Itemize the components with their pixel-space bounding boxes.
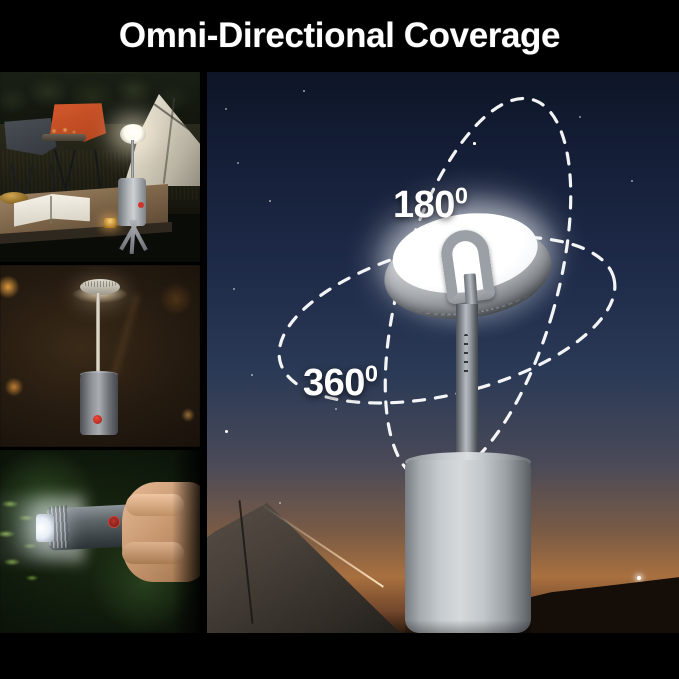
- angle-label-180: 1800: [393, 184, 468, 227]
- star-bright: [637, 576, 641, 580]
- angle-value-180: 180: [393, 184, 455, 226]
- lamp-head-vents: [82, 281, 118, 287]
- lamp-body: [80, 373, 118, 435]
- angle-unit-360: 0: [365, 360, 378, 386]
- power-button-icon: [93, 415, 102, 424]
- angle-unit-180: 0: [455, 182, 468, 208]
- lamp-body-shading: [405, 620, 531, 633]
- star: [237, 162, 239, 164]
- product-feature-image: Omni-Directional Coverage: [0, 0, 679, 679]
- lamp-body: [405, 460, 531, 633]
- tripod-stand: [108, 220, 158, 256]
- thumbnail-extended-pole: [0, 265, 200, 447]
- vignette-edge: [172, 450, 200, 633]
- star: [279, 502, 281, 504]
- power-button-icon: [108, 516, 120, 528]
- flashlight-emitter: [36, 514, 54, 542]
- star: [303, 90, 305, 92]
- telescopic-pole: [96, 293, 100, 375]
- power-button-icon: [138, 202, 144, 208]
- angle-label-360: 3600: [303, 362, 378, 405]
- thumbnail-handheld-flashlight: [0, 450, 200, 633]
- book-spine: [50, 196, 52, 224]
- star: [225, 430, 228, 433]
- page-title: Omni-Directional Coverage: [119, 16, 560, 56]
- bottom-bar: [0, 633, 679, 679]
- lamp-pole: [131, 140, 134, 182]
- star: [233, 288, 235, 290]
- pole-detent-dots: [464, 334, 468, 378]
- angle-value-360: 360: [303, 362, 365, 404]
- column-divider: [200, 72, 207, 633]
- cups-on-table: [50, 124, 78, 136]
- title-bar: Omni-Directional Coverage: [0, 0, 679, 72]
- star: [225, 108, 227, 110]
- star: [631, 180, 633, 182]
- star: [251, 374, 253, 376]
- thumbnail-column: [0, 72, 200, 633]
- thumbnail-campsite-tripod: [0, 72, 200, 262]
- main-hero-panel: 1800 3600: [207, 72, 679, 633]
